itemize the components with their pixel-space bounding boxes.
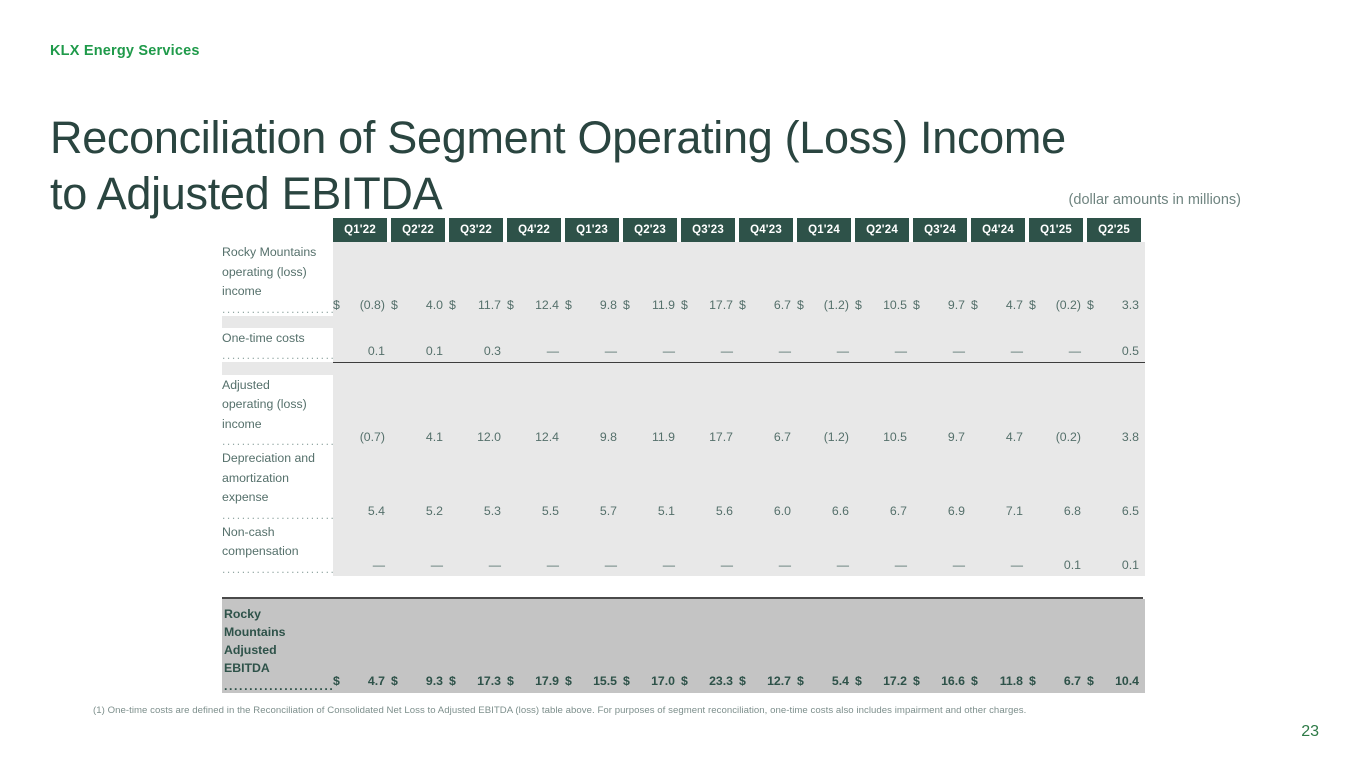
table-cell-value: 12.4 [523, 375, 565, 449]
currency-symbol [797, 448, 813, 522]
column-header-q225: Q2'25 [1087, 214, 1145, 242]
currency-symbol [855, 328, 871, 363]
row-label: Non-cashcompensation....................… [222, 522, 333, 576]
row-label: Rocky Mountainsoperating (loss)income...… [222, 242, 333, 316]
reconciliation-table: Q1'22Q2'22Q3'22Q4'22Q1'23Q2'23Q3'23Q4'23… [222, 214, 1145, 576]
currency-symbol [333, 448, 349, 522]
currency-symbol: $ [391, 242, 407, 316]
table-cell-value: 6.8 [1045, 448, 1087, 522]
currency-symbol [681, 375, 697, 449]
currency-symbol [855, 522, 871, 576]
currency-symbol: $ [623, 242, 639, 316]
currency-symbol [333, 375, 349, 449]
currency-symbol [1087, 328, 1103, 363]
quarter-chip: Q3'24 [913, 218, 967, 242]
row-label-line: Rocky Mountains [222, 242, 333, 262]
table-body: Rocky Mountainsoperating (loss)income...… [222, 242, 1145, 576]
currency-symbol: $ [1029, 599, 1045, 693]
currency-symbol [797, 375, 813, 449]
table-cell-value: (0.8) [349, 242, 391, 316]
currency-symbol: $ [681, 599, 697, 693]
leader-dots: ............................... [222, 301, 333, 316]
table-cell-value: — [929, 328, 971, 363]
currency-symbol [1087, 375, 1103, 449]
row-label-line: expense [222, 487, 333, 507]
leader-dots: ............................... [222, 347, 333, 362]
table-cell-value: 12.0 [465, 375, 507, 449]
row-label-line: amortization [222, 468, 333, 488]
quarter-chip: Q1'24 [797, 218, 851, 242]
footnote: (1) One-time costs are defined in the Re… [93, 705, 1026, 716]
currency-symbol [681, 522, 697, 576]
total-table-body: RockyMountainsAdjustedEBITDA............… [222, 599, 1145, 693]
currency-symbol [449, 522, 465, 576]
total-cell-value: 15.5 [581, 599, 623, 693]
table-cell-value: 4.7 [987, 375, 1029, 449]
currency-symbol [971, 328, 987, 363]
table-header: Q1'22Q2'22Q3'22Q4'22Q1'23Q2'23Q3'23Q4'23… [222, 214, 1145, 242]
row-label: Adjustedoperating (loss)income..........… [222, 375, 333, 449]
column-header-q124: Q1'24 [797, 214, 855, 242]
table-cell-value: 4.7 [987, 242, 1029, 316]
total-cell-value: 12.7 [755, 599, 797, 693]
table-cell-value: 17.7 [697, 242, 739, 316]
currency-symbol [507, 328, 523, 363]
table-cell-value: — [929, 522, 971, 576]
row-label-line: One-time costs [222, 328, 333, 348]
currency-symbol: $ [971, 599, 987, 693]
currency-symbol: $ [797, 599, 813, 693]
currency-symbol: $ [333, 242, 349, 316]
column-header-q125: Q1'25 [1029, 214, 1087, 242]
total-label-line: Rocky [224, 605, 333, 623]
currency-symbol: $ [623, 599, 639, 693]
currency-symbol [739, 448, 755, 522]
total-cell-value: 16.6 [929, 599, 971, 693]
currency-symbol: $ [507, 599, 523, 693]
table-cell-value: 4.0 [407, 242, 449, 316]
currency-symbol [391, 328, 407, 363]
column-header-q424: Q4'24 [971, 214, 1029, 242]
table-cell-value: 4.1 [407, 375, 449, 449]
currency-symbol [333, 522, 349, 576]
table-cell-value: 0.3 [465, 328, 507, 363]
currency-symbol [1029, 375, 1045, 449]
currency-symbol [855, 448, 871, 522]
quarter-chip: Q3'22 [449, 218, 503, 242]
table-cell-value: 7.1 [987, 448, 1029, 522]
row-label: One-time costs..........................… [222, 328, 333, 363]
table-cell-value: 6.5 [1103, 448, 1145, 522]
table-cell-value: — [639, 522, 681, 576]
table-cell-value: 6.9 [929, 448, 971, 522]
table-cell-value: (1.2) [813, 242, 855, 316]
currency-symbol: $ [449, 599, 465, 693]
currency-symbol [449, 375, 465, 449]
currency-symbol: $ [971, 242, 987, 316]
row-label-line: Adjusted [222, 375, 333, 395]
column-header-q122: Q1'22 [333, 214, 391, 242]
quarter-chip: Q1'25 [1029, 218, 1083, 242]
total-cell-value: 6.7 [1045, 599, 1087, 693]
currency-symbol [507, 522, 523, 576]
currency-symbol [623, 375, 639, 449]
currency-symbol [449, 328, 465, 363]
total-cell-value: 5.4 [813, 599, 855, 693]
table-cell-value: — [523, 328, 565, 363]
table-cell-value: 5.2 [407, 448, 449, 522]
total-cell-value: 17.2 [871, 599, 913, 693]
currency-symbol: $ [913, 599, 929, 693]
table-cell-value: — [581, 522, 623, 576]
quarter-chip: Q1'23 [565, 218, 619, 242]
currency-symbol [565, 448, 581, 522]
leader-dots: ............................... [222, 433, 333, 448]
table-cell-value: 0.1 [1045, 522, 1087, 576]
company-brand-label: KLX Energy Services [50, 43, 200, 59]
table-cell-value: (0.2) [1045, 375, 1087, 449]
row-label-line: Non-cash [222, 522, 333, 542]
table-cell-value: 3.8 [1103, 375, 1145, 449]
reconciliation-table-container: Q1'22Q2'22Q3'22Q4'22Q1'23Q2'23Q3'23Q4'23… [222, 214, 1143, 576]
table-cell-value: 11.9 [639, 375, 681, 449]
currency-symbol: $ [739, 242, 755, 316]
table-cell-value: — [697, 522, 739, 576]
currency-symbol: $ [855, 242, 871, 316]
currency-symbol: $ [681, 242, 697, 316]
table-cell-value: 10.5 [871, 375, 913, 449]
total-label-line: EBITDA [224, 659, 333, 677]
table-cell-value: — [813, 522, 855, 576]
currency-symbol [913, 328, 929, 363]
currency-symbol [449, 448, 465, 522]
leader-dots: ............................... [222, 561, 333, 576]
quarter-chip: Q4'22 [507, 218, 561, 242]
total-cell-value: 17.9 [523, 599, 565, 693]
table-cell-value: — [987, 328, 1029, 363]
currency-symbol [391, 375, 407, 449]
currency-symbol: $ [565, 242, 581, 316]
units-note: (dollar amounts in millions) [1069, 192, 1241, 208]
table-row: One-time costs..........................… [222, 328, 1145, 363]
column-header-q322: Q3'22 [449, 214, 507, 242]
currency-symbol: $ [913, 242, 929, 316]
table-corner-cell [222, 214, 333, 242]
currency-symbol [1029, 522, 1045, 576]
total-cell-value: 9.3 [407, 599, 449, 693]
currency-symbol: $ [449, 242, 465, 316]
currency-symbol [1087, 522, 1103, 576]
currency-symbol [1029, 448, 1045, 522]
currency-symbol [623, 328, 639, 363]
quarter-chip: Q4'24 [971, 218, 1025, 242]
row-label-line: Depreciation and [222, 448, 333, 468]
total-band: RockyMountainsAdjustedEBITDA............… [222, 597, 1143, 693]
quarter-chip: Q1'22 [333, 218, 387, 242]
currency-symbol [391, 448, 407, 522]
column-header-q223: Q2'23 [623, 214, 681, 242]
table-row: Rocky Mountainsoperating (loss)income...… [222, 242, 1145, 316]
total-table: RockyMountainsAdjustedEBITDA............… [222, 599, 1145, 693]
currency-symbol [971, 375, 987, 449]
table-cell-value: 9.7 [929, 242, 971, 316]
currency-symbol [623, 448, 639, 522]
currency-symbol: $ [565, 599, 581, 693]
currency-symbol: $ [1087, 599, 1103, 693]
table-row: Adjustedoperating (loss)income..........… [222, 375, 1145, 449]
table-cell-value: 0.5 [1103, 328, 1145, 363]
currency-symbol [623, 522, 639, 576]
table-cell-value: 9.8 [581, 242, 623, 316]
table-cell-value: 6.0 [755, 448, 797, 522]
currency-symbol [507, 448, 523, 522]
total-cell-value: 4.7 [349, 599, 391, 693]
table-row: Depreciation andamortizationexpense.....… [222, 448, 1145, 522]
currency-symbol [797, 328, 813, 363]
currency-symbol [971, 448, 987, 522]
currency-symbol [913, 522, 929, 576]
total-row: RockyMountainsAdjustedEBITDA............… [222, 599, 1145, 693]
table-cell-value: 0.1 [1103, 522, 1145, 576]
currency-symbol: $ [797, 242, 813, 316]
page-title-line-1: Reconciliation of Segment Operating (Los… [50, 110, 1250, 166]
currency-symbol [913, 375, 929, 449]
currency-symbol: $ [739, 599, 755, 693]
currency-symbol [565, 522, 581, 576]
row-spacer-cell [222, 362, 1145, 375]
table-cell-value: — [523, 522, 565, 576]
currency-symbol [391, 522, 407, 576]
table-cell-value: — [349, 522, 391, 576]
currency-symbol [507, 375, 523, 449]
currency-symbol [565, 375, 581, 449]
currency-symbol: $ [391, 599, 407, 693]
total-row-label: RockyMountainsAdjustedEBITDA............… [222, 599, 333, 693]
table-cell-value: 5.1 [639, 448, 681, 522]
table-cell-value: 0.1 [407, 328, 449, 363]
currency-symbol [681, 328, 697, 363]
currency-symbol [739, 328, 755, 363]
table-cell-value: 9.7 [929, 375, 971, 449]
currency-symbol [913, 448, 929, 522]
table-cell-value: — [407, 522, 449, 576]
column-header-q422: Q4'22 [507, 214, 565, 242]
quarter-chip: Q2'23 [623, 218, 677, 242]
currency-symbol [971, 522, 987, 576]
currency-symbol: $ [1029, 242, 1045, 316]
currency-symbol: $ [333, 599, 349, 693]
row-spacer [222, 316, 1145, 328]
row-label-line: compensation [222, 541, 333, 561]
quarter-chip: Q2'22 [391, 218, 445, 242]
row-spacer [222, 362, 1145, 375]
total-cell-value: 17.3 [465, 599, 507, 693]
table-cell-value: 9.8 [581, 375, 623, 449]
table-cell-value: 5.6 [697, 448, 739, 522]
currency-symbol [565, 328, 581, 363]
table-cell-value: — [755, 522, 797, 576]
total-cell-value: 11.8 [987, 599, 1029, 693]
currency-symbol [797, 522, 813, 576]
currency-symbol: $ [1087, 242, 1103, 316]
table-cell-value: 5.7 [581, 448, 623, 522]
table-cell-value: — [697, 328, 739, 363]
table-cell-value: (0.2) [1045, 242, 1087, 316]
column-header-q222: Q2'22 [391, 214, 449, 242]
column-header-q123: Q1'23 [565, 214, 623, 242]
table-cell-value: — [755, 328, 797, 363]
quarter-chip: Q3'23 [681, 218, 735, 242]
row-label-line: income [222, 414, 333, 434]
total-label-line: Adjusted [224, 641, 333, 659]
currency-symbol [739, 375, 755, 449]
page-number: 23 [1301, 723, 1319, 741]
total-label-line: Mountains [224, 623, 333, 641]
table-cell-value: — [871, 522, 913, 576]
currency-symbol [739, 522, 755, 576]
leader-dots: ............................... [222, 507, 333, 522]
table-cell-value: 6.7 [755, 375, 797, 449]
table-cell-value: — [871, 328, 913, 363]
row-label-line: operating (loss) [222, 394, 333, 414]
table-cell-value: (1.2) [813, 375, 855, 449]
currency-symbol [1087, 448, 1103, 522]
currency-symbol [333, 328, 349, 363]
table-cell-value: — [465, 522, 507, 576]
column-header-q323: Q3'23 [681, 214, 739, 242]
currency-symbol [681, 448, 697, 522]
leader-dots: ............................... [224, 677, 333, 693]
table-cell-value: 12.4 [523, 242, 565, 316]
table-cell-value: — [581, 328, 623, 363]
row-label-line: income [222, 281, 333, 301]
table-cell-value: — [1045, 328, 1087, 363]
table-cell-value: 11.7 [465, 242, 507, 316]
currency-symbol [855, 375, 871, 449]
currency-symbol: $ [507, 242, 523, 316]
table-cell-value: 17.7 [697, 375, 739, 449]
row-label: Depreciation andamortizationexpense.....… [222, 448, 333, 522]
row-label-line: operating (loss) [222, 262, 333, 282]
total-cell-value: 17.0 [639, 599, 681, 693]
table-cell-value: — [813, 328, 855, 363]
quarter-chip: Q2'25 [1087, 218, 1141, 242]
table-cell-value: 5.5 [523, 448, 565, 522]
table-cell-value: 6.7 [755, 242, 797, 316]
table-cell-value: 3.3 [1103, 242, 1145, 316]
currency-symbol: $ [855, 599, 871, 693]
column-header-q324: Q3'24 [913, 214, 971, 242]
total-cell-value: 10.4 [1103, 599, 1145, 693]
quarter-chip: Q2'24 [855, 218, 909, 242]
table-cell-value: (0.7) [349, 375, 391, 449]
table-cell-value: 5.3 [465, 448, 507, 522]
column-header-q423: Q4'23 [739, 214, 797, 242]
table-header-row: Q1'22Q2'22Q3'22Q4'22Q1'23Q2'23Q3'23Q4'23… [222, 214, 1145, 242]
total-cell-value: 23.3 [697, 599, 739, 693]
row-spacer-cell [222, 316, 1145, 328]
table-cell-value: — [987, 522, 1029, 576]
table-cell-value: 10.5 [871, 242, 913, 316]
quarter-chip: Q4'23 [739, 218, 793, 242]
table-row: Non-cashcompensation....................… [222, 522, 1145, 576]
table-cell-value: — [639, 328, 681, 363]
table-cell-value: 6.7 [871, 448, 913, 522]
table-cell-value: 5.4 [349, 448, 391, 522]
column-header-q224: Q2'24 [855, 214, 913, 242]
table-cell-value: 6.6 [813, 448, 855, 522]
table-cell-value: 0.1 [349, 328, 391, 363]
table-cell-value: 11.9 [639, 242, 681, 316]
currency-symbol [1029, 328, 1045, 363]
